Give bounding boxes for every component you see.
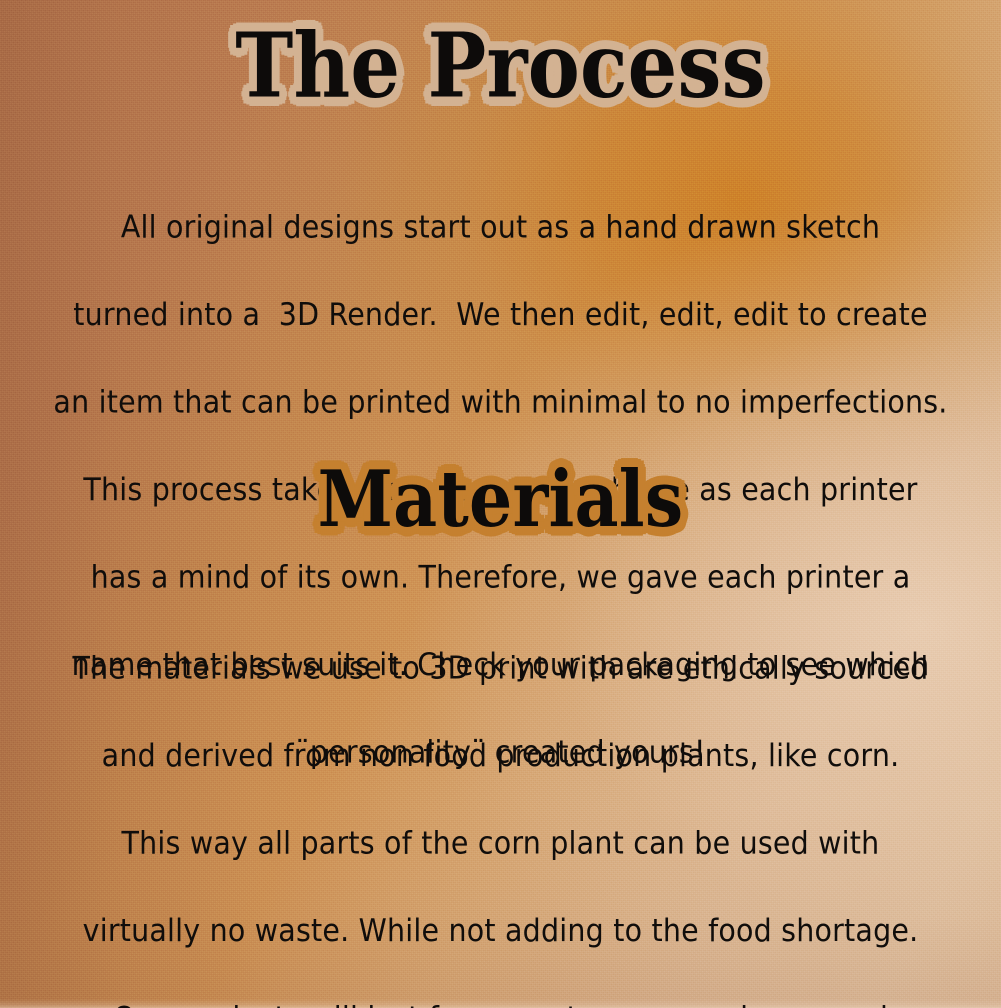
materials-body-line: This way all parts of the corn plant can… (0, 822, 1001, 866)
materials-body-line: The materials we use to 3D print with ar… (0, 647, 1001, 691)
materials-body-line: Our products will last for years to come… (0, 997, 1001, 1008)
materials-body-line: virtually no waste. While not adding to … (0, 909, 1001, 953)
poster-content: The Process All original designs start o… (0, 0, 1001, 1008)
process-body-line: has a mind of its own. Therefore, we gav… (0, 556, 1001, 600)
process-body-line: All original designs start out as a hand… (0, 206, 1001, 250)
process-body-line: an item that can be printed with minimal… (0, 381, 1001, 425)
materials-body-text: The materials we use to 3D print with ar… (0, 603, 1001, 1008)
materials-body-line: and derived from non food production pla… (0, 734, 1001, 778)
process-heading: The Process (0, 23, 1001, 112)
process-body-line: turned into a 3D Render. We then edit, e… (0, 293, 1001, 337)
materials-heading: Materials (0, 461, 1001, 539)
process-materials-poster: The Process All original designs start o… (0, 0, 1001, 1008)
